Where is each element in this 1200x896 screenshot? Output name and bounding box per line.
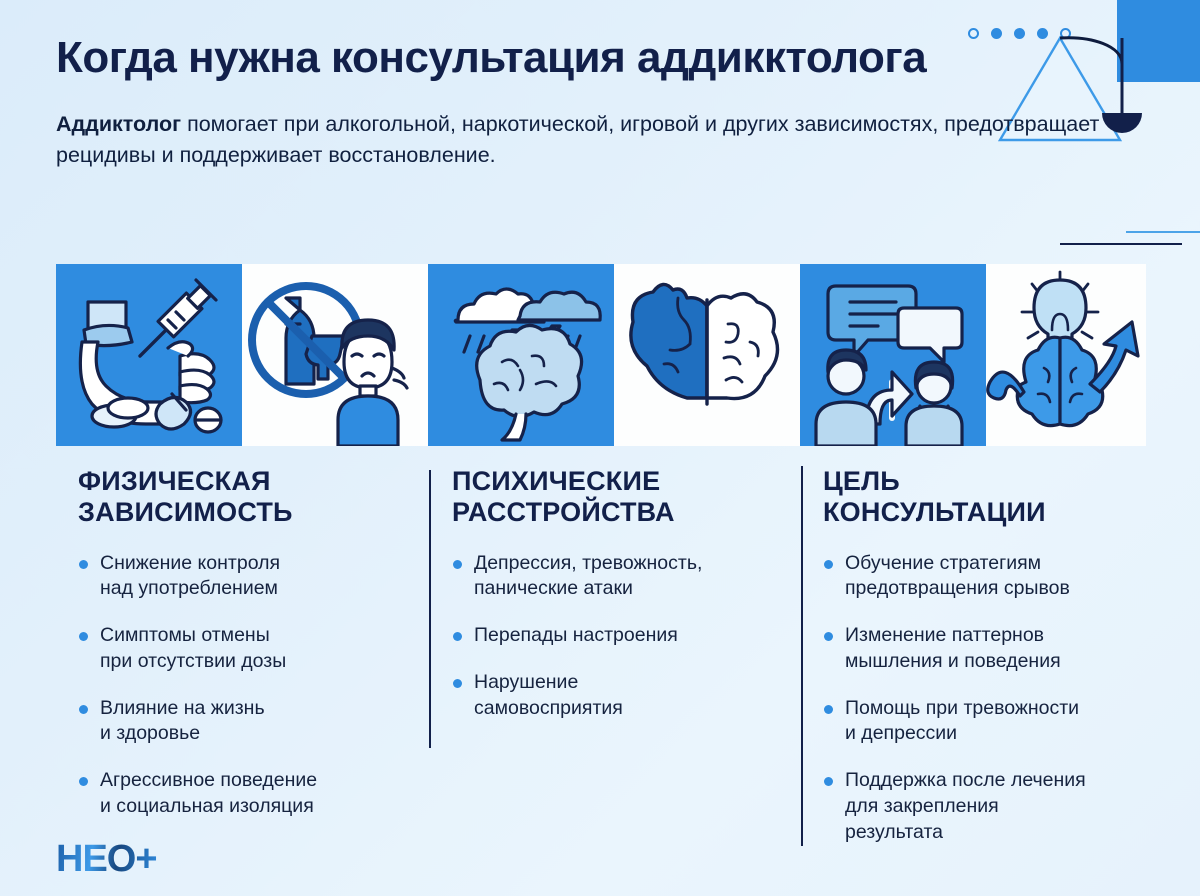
brain-storm-cloud-icon: [428, 264, 614, 446]
page-subtitle: Аддиктолог помогает при алкогольной, нар…: [56, 109, 1106, 170]
subtitle-rest: помогает при алкогольной, наркотической,…: [56, 112, 1099, 167]
list-item: Влияние на жизнь и здоровье: [78, 696, 408, 747]
panel-lightbulb-brain: [986, 264, 1146, 446]
dot-filled-icon: [991, 28, 1002, 39]
list-item: Депрессия, тревожность, панические атаки: [452, 551, 782, 602]
arm-syringe-pills-icon: [56, 264, 242, 446]
dot-open-icon: [968, 28, 979, 39]
panel-arm-syringe: [56, 264, 242, 446]
column-heading: ПСИХИЧЕСКИЕ РАССТРОЙСТВА: [452, 466, 782, 529]
list-item: Нарушение самовосприятия: [452, 670, 782, 721]
accent-line-light: [1126, 231, 1200, 233]
lightbulb-brain-arrows-icon: [986, 264, 1146, 446]
dot-filled-icon: [1037, 28, 1048, 39]
panel-people-chat: [800, 264, 986, 446]
column-divider-1: [429, 470, 431, 748]
half-circle-icon: [1102, 113, 1142, 133]
list-item: Обучение стратегиям предотвращения срыво…: [823, 551, 1163, 602]
no-alcohol-sad-person-icon: [242, 264, 428, 446]
dot-filled-icon: [1014, 28, 1025, 39]
curved-connector-icon: [1060, 38, 1122, 64]
panel-no-alcohol: [242, 264, 428, 446]
list-item: Поддержка после лечения для закрепления …: [823, 768, 1163, 845]
column-consultation-goal: ЦЕЛЬ КОНСУЛЬТАЦИИ Обучение стратегиям пр…: [823, 466, 1163, 866]
column-heading: ФИЗИЧЕСКАЯ ЗАВИСИМОСТЬ: [78, 466, 408, 529]
panel-brain-storm: [428, 264, 614, 446]
bullet-list: Снижение контроля над употреблением Симп…: [78, 551, 408, 820]
column-physical-dependence: ФИЗИЧЕСКАЯ ЗАВИСИМОСТЬ Снижение контроля…: [78, 466, 408, 841]
subtitle-bold-term: Аддиктолог: [56, 112, 181, 136]
bullet-list: Депрессия, тревожность, панические атаки…: [452, 551, 782, 722]
heart-brain-split-icon: [614, 264, 800, 446]
list-item: Снижение контроля над употреблением: [78, 551, 408, 602]
brand-logo: НЕО+: [56, 838, 157, 881]
page-title: Когда нужна консультация аддикктолога: [56, 32, 956, 83]
header: Когда нужна консультация аддикктолога Ад…: [56, 32, 956, 170]
column-heading: ЦЕЛЬ КОНСУЛЬТАЦИИ: [823, 466, 1163, 529]
list-item: Симптомы отмены при отсутствии дозы: [78, 623, 408, 674]
list-item: Изменение паттернов мышления и поведения: [823, 623, 1163, 674]
column-divider-2: [801, 466, 803, 846]
bullet-list: Обучение стратегиям предотвращения срыво…: [823, 551, 1163, 846]
accent-line-dark: [1060, 243, 1182, 245]
panel-heart-brain: [614, 264, 800, 446]
list-item: Агрессивное поведение и социальная изоля…: [78, 768, 408, 819]
people-speech-bubbles-icon: [800, 264, 986, 446]
dot-open-icon: [1060, 28, 1071, 39]
blue-rectangle-decor: [1117, 0, 1200, 82]
list-item: Перепады настроения: [452, 623, 782, 649]
dot-row-decor: [968, 28, 1071, 39]
column-mental-disorders: ПСИХИЧЕСКИЕ РАССТРОЙСТВА Депрессия, трев…: [452, 466, 782, 742]
illustration-strip: [0, 264, 1200, 446]
list-item: Помощь при тревожности и депрессии: [823, 696, 1163, 747]
